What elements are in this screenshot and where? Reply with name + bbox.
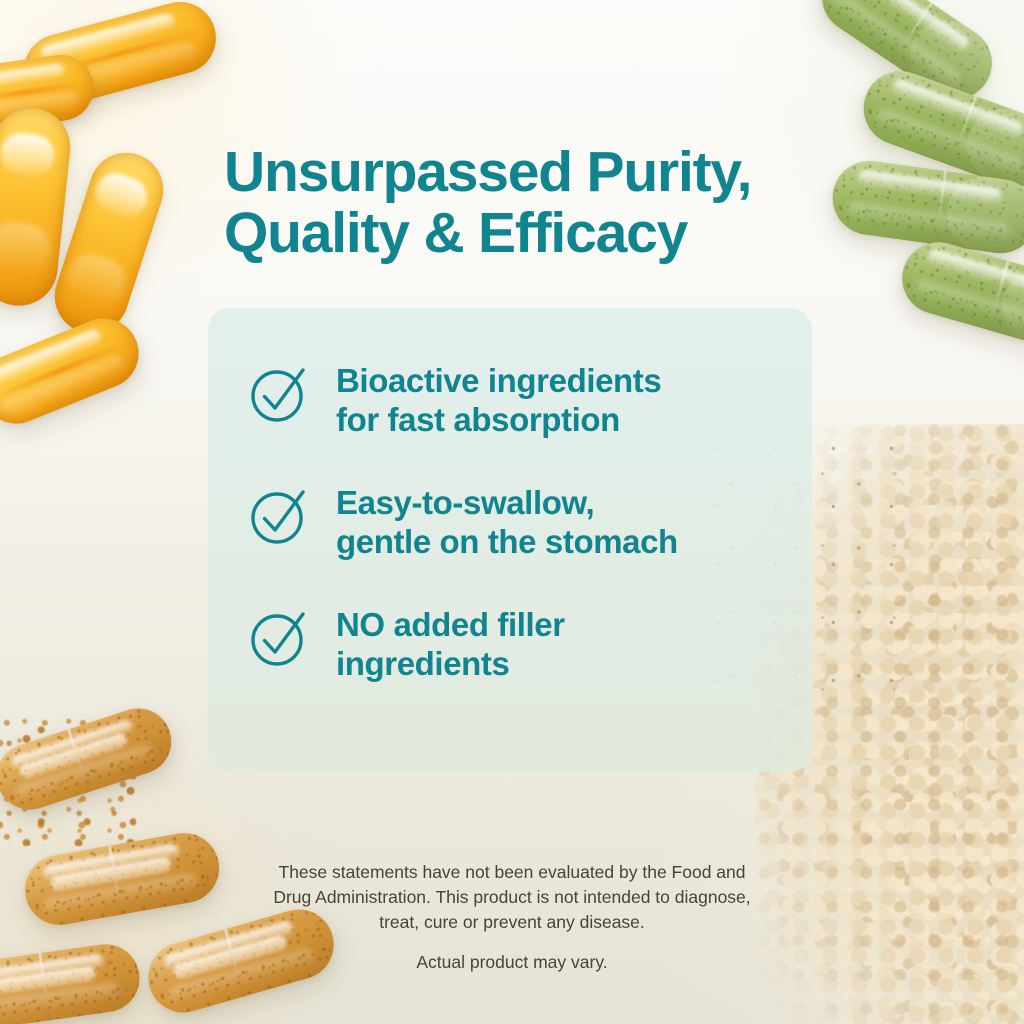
benefit-item-easy-to-swallow: Easy-to-swallow, gentle on the stomach [248,482,778,562]
turmeric-capsule [0,940,144,1024]
benefit-item-bioactive: Bioactive ingredients for fast absorptio… [248,360,778,440]
check-circle-icon [248,362,310,424]
benefit-label: Easy-to-swallow, gentle on the stomach [336,482,678,562]
benefit-item-no-fillers: NO added filler ingredients [248,604,778,684]
benefit-label: NO added filler ingredients [336,604,565,684]
supplement-benefits-graphic: Unsurpassed Purity, Quality & Efficacy B… [0,0,1024,1024]
page-title: Unsurpassed Purity, Quality & Efficacy [224,142,824,263]
product-variance-note: Actual product may vary. [180,950,844,975]
fda-disclaimer: These statements have not been evaluated… [180,860,844,936]
turmeric-capsule [0,700,180,818]
check-circle-icon [248,606,310,668]
benefits-card: Bioactive ingredients for fast absorptio… [208,308,812,772]
softgel-capsule [0,308,149,434]
benefit-label: Bioactive ingredients for fast absorptio… [336,360,661,440]
check-circle-icon [248,484,310,546]
